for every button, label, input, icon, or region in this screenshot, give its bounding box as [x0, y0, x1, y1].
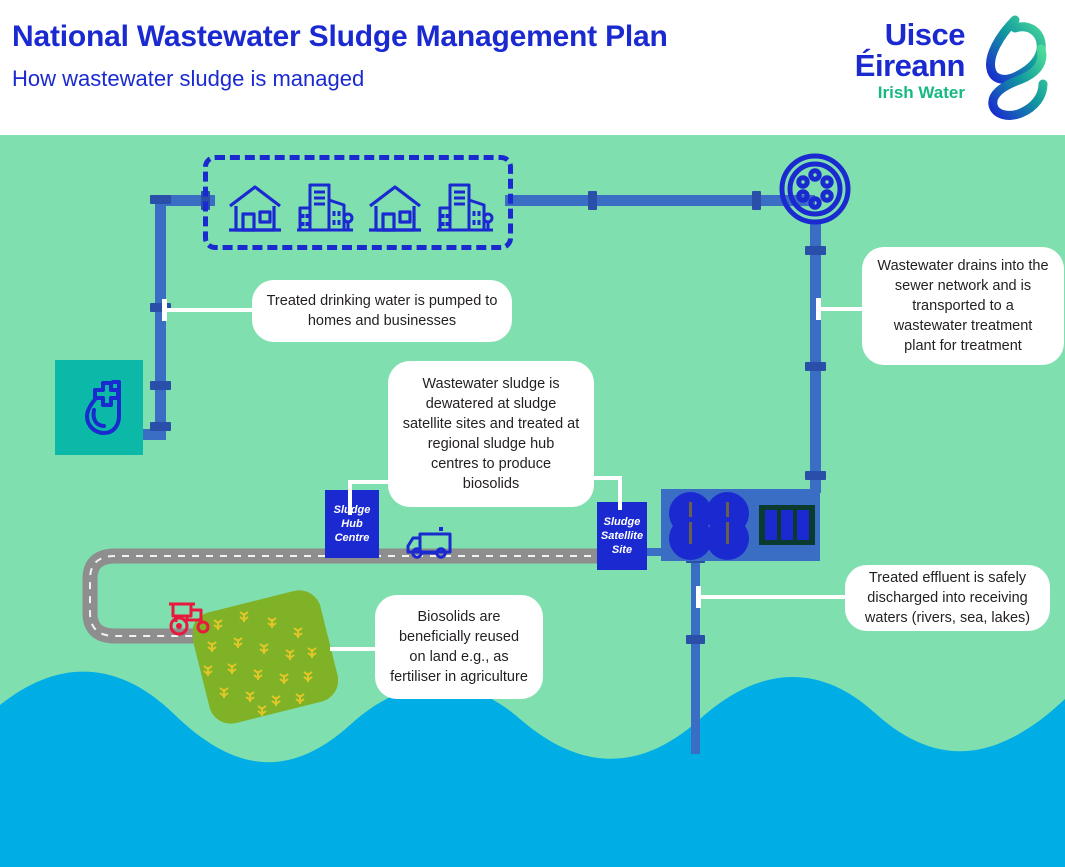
wastewater-treatment-plant [661, 489, 820, 561]
leader-cap [162, 299, 167, 321]
pipe-joint [150, 381, 171, 390]
pipe-joint [686, 635, 705, 644]
callout-sewer-network: Wastewater drains into the sewer network… [862, 247, 1064, 365]
premises-group [203, 155, 513, 250]
pipe-joint [805, 246, 826, 255]
leader-cap [696, 586, 701, 608]
drinking-water-plant-block [55, 360, 143, 455]
uisce-eireann-swoosh-icon [957, 14, 1057, 122]
infographic-page: National Wastewater Sludge Management Pl… [0, 0, 1065, 867]
tank-bar [797, 510, 809, 540]
pipe-joint [588, 191, 597, 210]
leader-line-drinking-water [164, 308, 256, 312]
callout-drinking-water: Treated drinking water is pumped to home… [252, 280, 512, 342]
tractor-icon [165, 598, 219, 638]
pipe-joint [805, 362, 826, 371]
clarifier-rake [689, 522, 692, 544]
house-icon [225, 178, 285, 238]
logo-line-eireann: Éireann [797, 50, 965, 82]
house-icon [365, 178, 425, 238]
water-drop-cross-icon [71, 376, 127, 438]
pipe-joint [752, 191, 761, 210]
logo: Uisce Éireann Irish Water [797, 14, 1057, 124]
pipe-joint [805, 471, 826, 480]
pipe-joint [150, 422, 171, 431]
tank-bar [781, 510, 793, 540]
office-buildings-icon [295, 178, 355, 238]
leader-line-effluent [698, 595, 850, 599]
logo-line-uisce: Uisce [797, 20, 965, 50]
leader-line-biosolids [330, 647, 380, 651]
page-subtitle: How wastewater sludge is managed [12, 66, 364, 92]
manhole-cover-icon [779, 153, 851, 225]
sludge-tanker-truck-icon [404, 524, 456, 564]
leader-cap [816, 298, 821, 320]
page-title: National Wastewater Sludge Management Pl… [12, 20, 668, 54]
pipe-premises-to-manhole [505, 195, 815, 206]
header-bar: National Wastewater Sludge Management Pl… [0, 0, 1065, 135]
logo-text: Uisce Éireann Irish Water [797, 20, 965, 104]
callout-effluent-discharge: Treated effluent is safely discharged in… [845, 565, 1050, 631]
leader-line-sewer [818, 307, 868, 311]
clarifier-rake [726, 522, 729, 544]
pipe-joint [150, 195, 171, 204]
callout-biosolids-reuse: Biosolids are beneficially reused on lan… [375, 595, 543, 699]
pipe-sewer-downpipe [810, 221, 821, 493]
office-buildings-icon [435, 178, 495, 238]
logo-line-irish-water: Irish Water [797, 82, 965, 104]
scene: Sludge Hub Centre Sludge Satellite Site [0, 135, 1065, 867]
aeration-tank [759, 505, 815, 545]
callout-sludge-treatment: Wastewater sludge is dewatered at sludge… [388, 361, 594, 507]
tank-bar [765, 510, 777, 540]
